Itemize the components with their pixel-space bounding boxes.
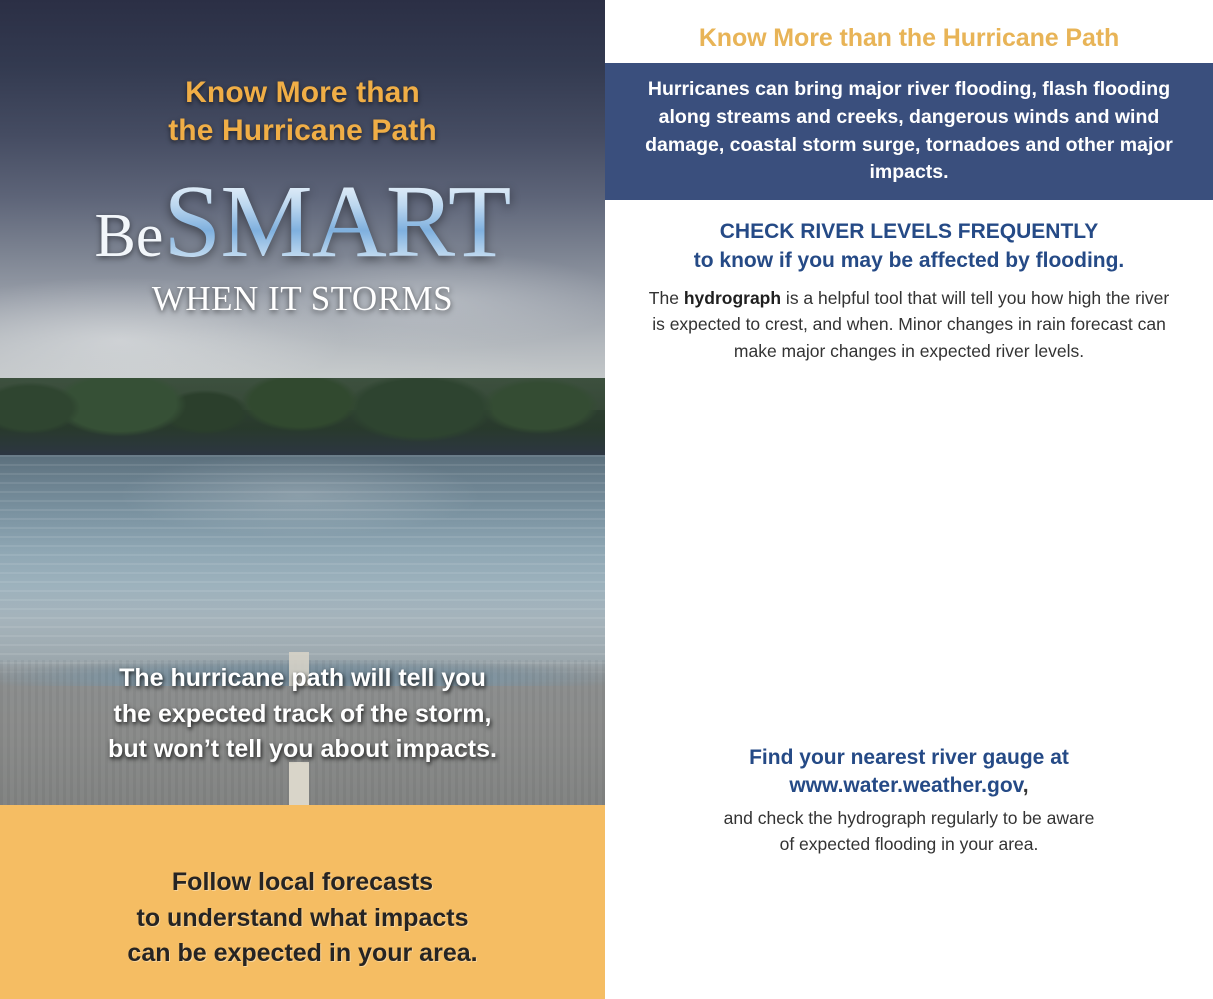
- find-gauge-url-line: www.water.weather.gov,: [605, 772, 1213, 800]
- find-gauge-sub-line-1: and check the hydrograph regularly to be…: [605, 806, 1213, 832]
- check-river-levels-heading: CHECK RIVER LEVELS FREQUENTLY to know if…: [605, 218, 1213, 276]
- left-panel-title: Know More than the Hurricane Path: [0, 74, 605, 150]
- left-panel-caption: The hurricane path will tell you the exp…: [0, 661, 605, 768]
- right-panel-heading: Know More than the Hurricane Path: [605, 24, 1213, 53]
- hurricane-impacts-banner: Hurricanes can bring major river floodin…: [605, 63, 1213, 200]
- left-caption-line-3: but won’t tell you about impacts.: [0, 732, 605, 768]
- brochure-page: Know More than the Hurricane Path BeSMAR…: [0, 0, 1213, 999]
- water-weather-gov-link[interactable]: www.water.weather.gov: [789, 774, 1022, 797]
- find-gauge-subtext: and check the hydrograph regularly to be…: [605, 806, 1213, 858]
- follow-forecasts-text: Follow local forecasts to understand wha…: [0, 865, 605, 972]
- be-smart-tagline: WHEN IT STORMS: [0, 279, 605, 319]
- find-gauge-comma: ,: [1023, 774, 1029, 797]
- left-hero-panel: Know More than the Hurricane Path BeSMAR…: [0, 0, 605, 999]
- left-title-line-1: Know More than: [0, 74, 605, 112]
- find-gauge-line-1: Find your nearest river gauge at: [605, 744, 1213, 772]
- follow-line-1: Follow local forecasts: [0, 865, 605, 901]
- follow-line-3: can be expected in your area.: [0, 936, 605, 972]
- be-smart-logo-be: Be: [95, 202, 164, 270]
- find-river-gauge-section: Find your nearest river gauge at www.wat…: [605, 744, 1213, 858]
- left-title-line-2: the Hurricane Path: [0, 112, 605, 150]
- hydrograph-keyword: hydrograph: [684, 288, 781, 308]
- check-levels-line-1: CHECK RIVER LEVELS FREQUENTLY: [605, 218, 1213, 247]
- hydrograph-description: The hydrograph is a helpful tool that wi…: [645, 285, 1173, 364]
- check-levels-line-2: to know if you may be affected by floodi…: [605, 247, 1213, 276]
- be-smart-logo: BeSMART: [0, 172, 605, 272]
- be-smart-logo-smart: SMART: [163, 164, 510, 279]
- right-content-panel: Know More than the Hurricane Path Hurric…: [605, 0, 1213, 999]
- find-gauge-sub-line-2: of expected flooding in your area.: [605, 832, 1213, 858]
- follow-line-2: to understand what impacts: [0, 901, 605, 937]
- find-gauge-heading: Find your nearest river gauge at www.wat…: [605, 744, 1213, 800]
- left-caption-line-1: The hurricane path will tell you: [0, 661, 605, 697]
- hydrograph-desc-part-a: The: [649, 288, 684, 308]
- follow-forecasts-band: Follow local forecasts to understand wha…: [0, 805, 605, 999]
- left-caption-line-2: the expected track of the storm,: [0, 697, 605, 733]
- road-lane-marking: [289, 762, 309, 806]
- hurricane-impacts-text: Hurricanes can bring major river floodin…: [605, 76, 1213, 187]
